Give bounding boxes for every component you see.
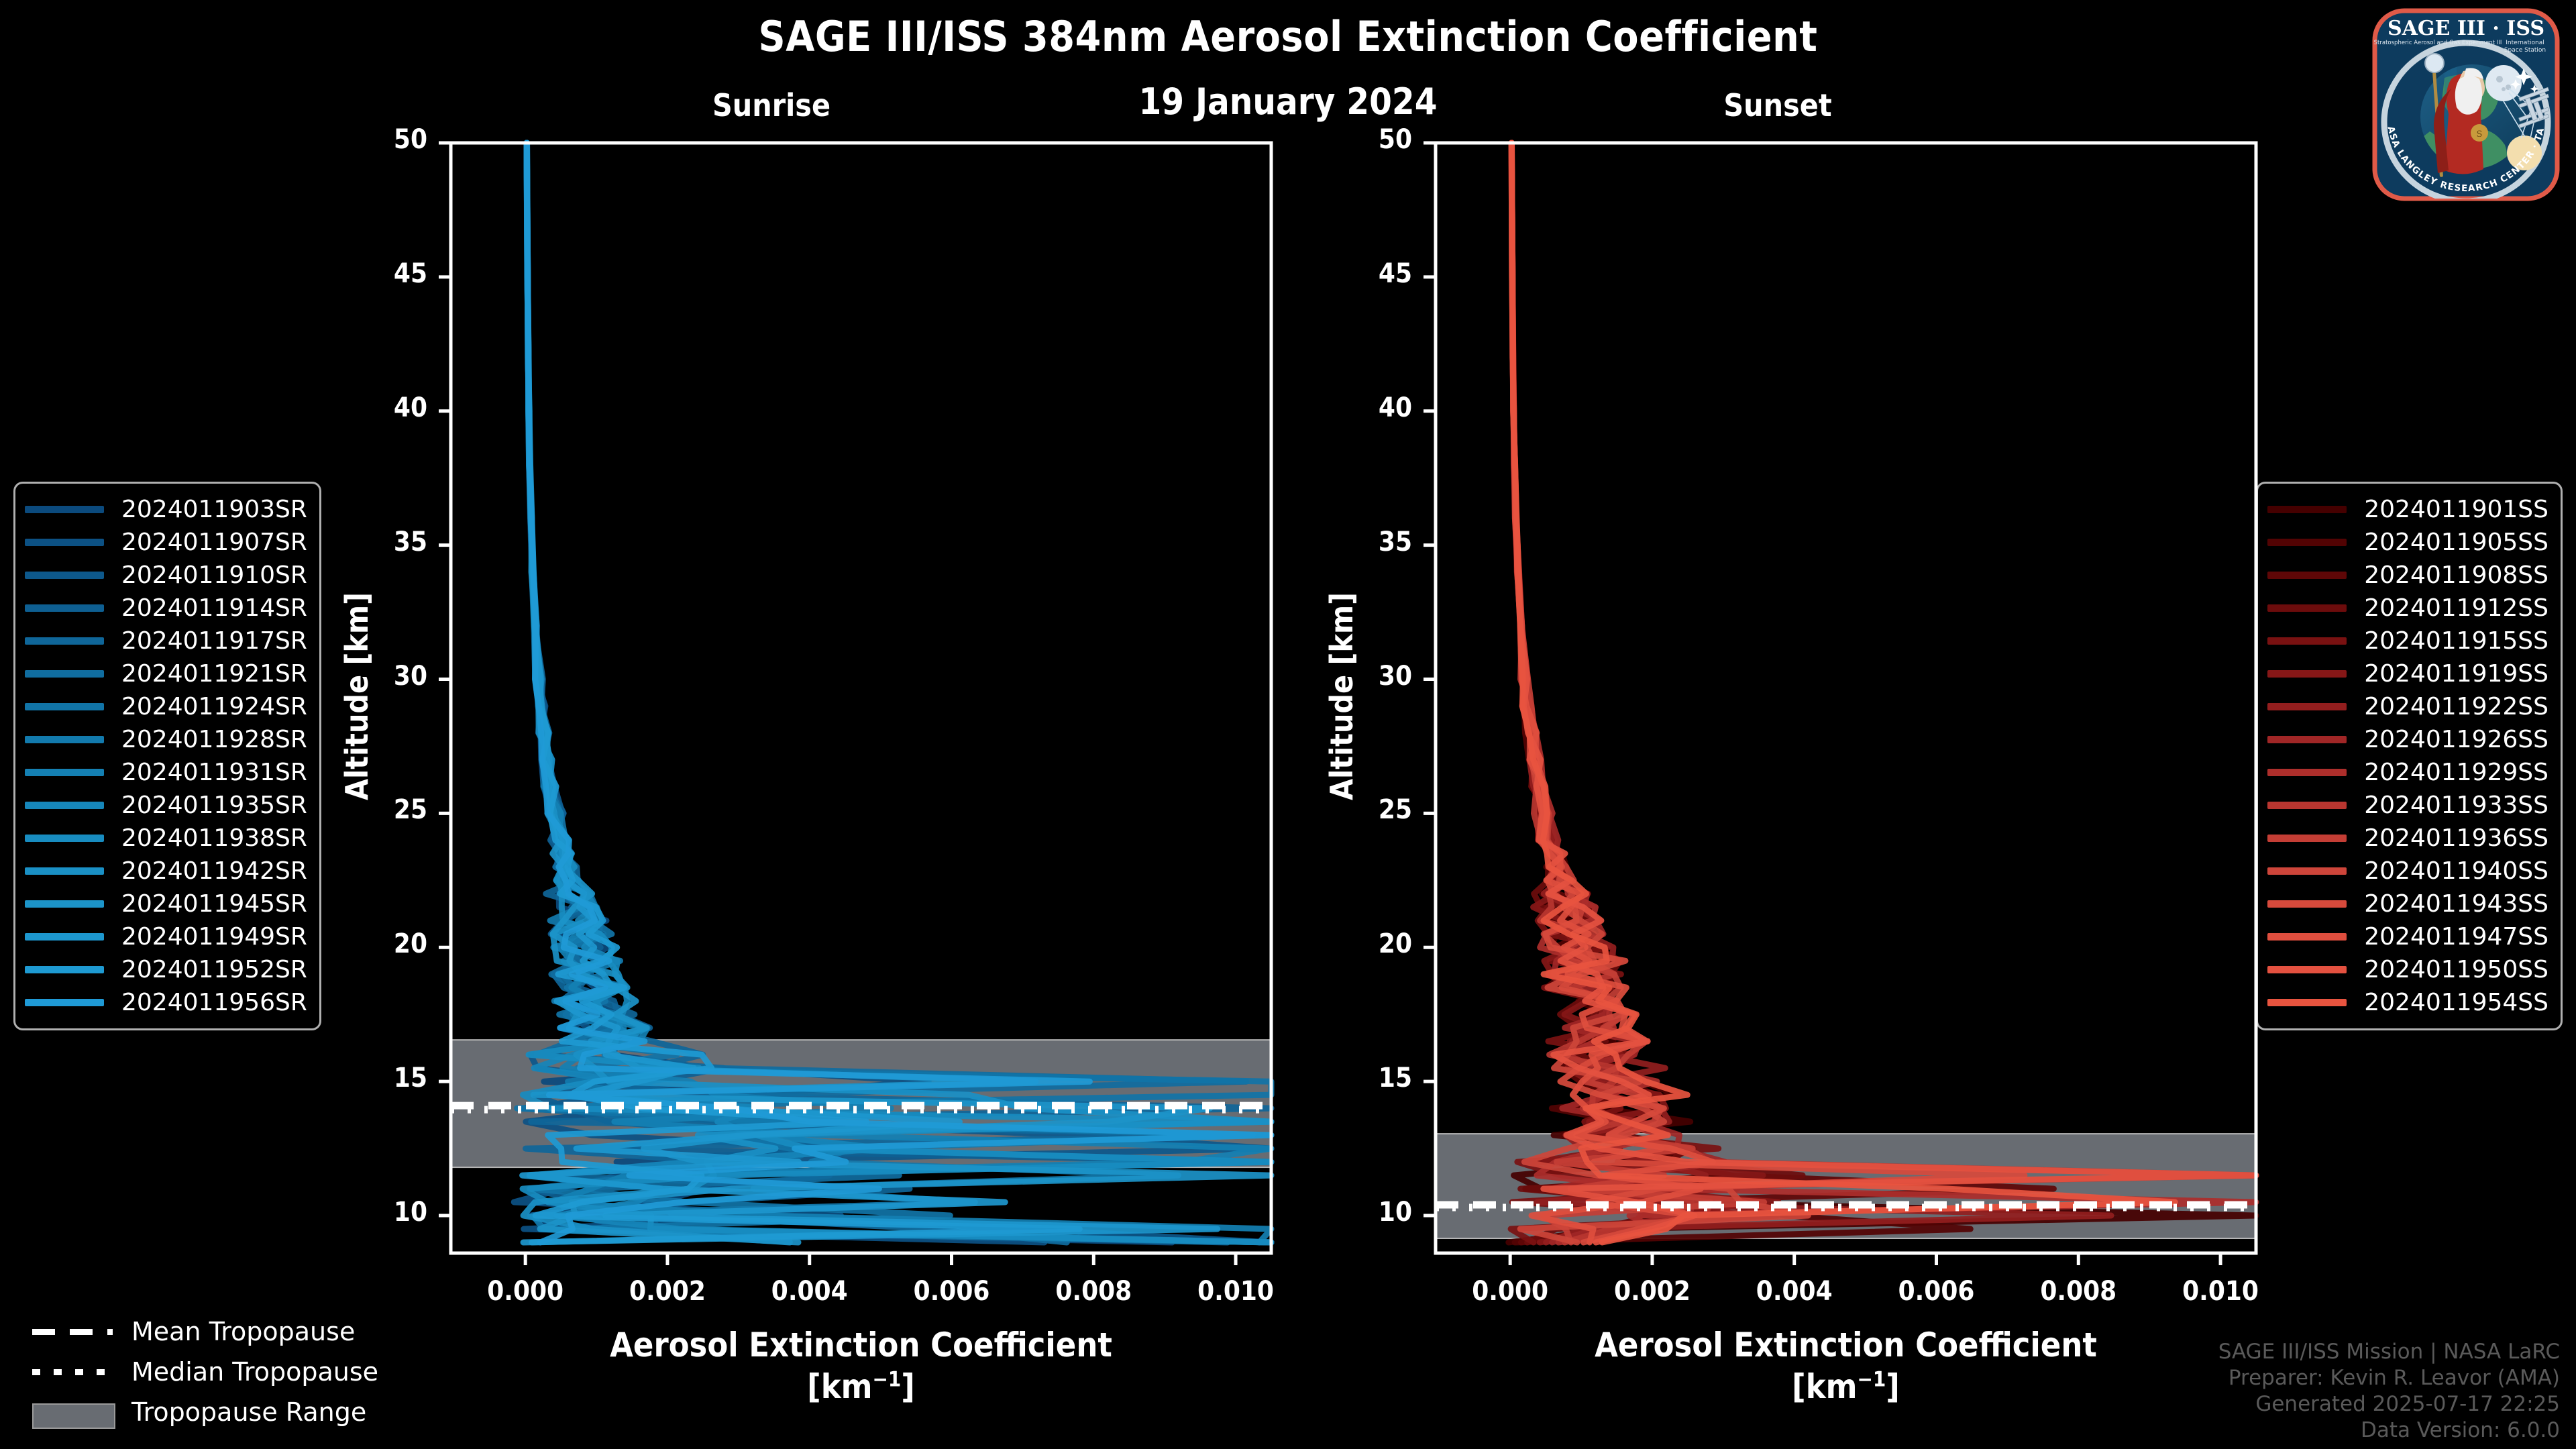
legend-sunset-label: 2024011919SS <box>2364 660 2548 688</box>
y-tick-label: 35 <box>350 527 427 557</box>
y-axis-label: Altitude [km] <box>1324 576 1360 817</box>
y-tick-label: 50 <box>350 124 427 155</box>
y-tick-label: 20 <box>350 928 427 959</box>
x-tick-label: 0.008 <box>2011 1276 2145 1307</box>
footer-line-mission: SAGE III/ISS Mission | NASA LaRC <box>2218 1339 2560 1365</box>
x-axis-label-line2: [km−1] <box>451 1367 1271 1407</box>
legend-sunrise-label: 2024011928SR <box>121 726 307 753</box>
legend-sunrise-item[interactable]: 2024011949SR <box>25 920 307 953</box>
legend-sunrise-label: 2024011938SR <box>121 824 307 852</box>
legend-sunrise: 2024011903SR2024011907SR2024011910SR2024… <box>13 482 321 1030</box>
legend-sunset-item[interactable]: 2024011908SS <box>2267 559 2548 592</box>
legend-sunset-item[interactable]: 2024011922SS <box>2267 690 2548 723</box>
legend-sunrise-item[interactable]: 2024011907SR <box>25 526 307 559</box>
legend-sunset-item[interactable]: 2024011936SS <box>2267 822 2548 855</box>
panel-label-sunset: Sunset <box>1644 87 1912 123</box>
dotted-line-icon <box>32 1363 113 1381</box>
line-swatch-icon <box>25 835 104 842</box>
legend-sunrise-item[interactable]: 2024011924SR <box>25 690 307 723</box>
y-tick-label: 35 <box>1335 527 1412 557</box>
legend-sunrise-label: 2024011945SR <box>121 890 307 918</box>
line-swatch-icon <box>25 703 104 710</box>
line-swatch-icon <box>2267 867 2347 875</box>
line-swatch-icon <box>25 802 104 809</box>
line-swatch-icon <box>2267 670 2347 678</box>
legend-sunrise-label: 2024011903SR <box>121 496 307 523</box>
logo-subtitle-right-2: Space Station <box>2504 47 2546 54</box>
y-tick-label: 45 <box>350 258 427 289</box>
legend-sunset-label: 2024011933SS <box>2364 792 2548 819</box>
line-swatch-icon <box>2267 736 2347 743</box>
legend-sunrise-item[interactable]: 2024011903SR <box>25 493 307 526</box>
line-swatch-icon <box>2267 703 2347 710</box>
line-swatch-icon <box>25 966 104 973</box>
legend-label-mean-tropopause: Mean Tropopause <box>131 1317 355 1346</box>
line-swatch-icon <box>25 999 104 1006</box>
x-tick-label: 0.004 <box>743 1276 877 1307</box>
y-tick-label: 15 <box>350 1063 427 1093</box>
legend-sunset: 2024011901SS2024011905SS2024011908SS2024… <box>2256 482 2563 1030</box>
y-tick-label: 10 <box>350 1197 427 1228</box>
x-axis-label-line1: Aerosol Extinction Coefficient <box>1436 1326 2256 1365</box>
line-swatch-icon <box>25 604 104 612</box>
legend-sunrise-item[interactable]: 2024011921SR <box>25 657 307 690</box>
legend-sunrise-label: 2024011921SR <box>121 660 307 688</box>
y-tick-label: 40 <box>350 392 427 423</box>
legend-sunset-label: 2024011954SS <box>2364 989 2548 1016</box>
line-swatch-icon <box>2267 933 2347 941</box>
line-swatch-icon <box>25 933 104 941</box>
legend-sunset-label: 2024011943SS <box>2364 890 2548 918</box>
legend-sunset-label: 2024011901SS <box>2364 496 2548 523</box>
line-swatch-icon <box>2267 802 2347 809</box>
legend-sunrise-label: 2024011931SR <box>121 759 307 786</box>
x-tick-label: 0.010 <box>2153 1276 2288 1307</box>
legend-label-median-tropopause: Median Tropopause <box>131 1357 378 1387</box>
line-swatch-icon <box>25 637 104 645</box>
legend-sunset-item[interactable]: 2024011950SS <box>2267 953 2548 986</box>
line-swatch-icon <box>2267 769 2347 776</box>
legend-sunset-item[interactable]: 2024011947SS <box>2267 920 2548 953</box>
y-tick-label: 40 <box>1335 392 1412 423</box>
legend-sunrise-item[interactable]: 2024011928SR <box>25 723 307 756</box>
line-swatch-icon <box>25 867 104 875</box>
x-tick-label: 0.000 <box>458 1276 592 1307</box>
y-tick-label: 50 <box>1335 124 1412 155</box>
logo-subtitle-left: Stratospheric Aerosol and Gas Experiment… <box>2374 40 2502 46</box>
line-swatch-icon <box>2267 835 2347 842</box>
line-swatch-icon <box>25 506 104 513</box>
legend-sunrise-label: 2024011935SR <box>121 792 307 819</box>
line-swatch-icon <box>2267 900 2347 908</box>
legend-sunrise-item[interactable]: 2024011917SR <box>25 625 307 657</box>
legend-sunset-label: 2024011947SS <box>2364 923 2548 951</box>
page-title: SAGE III/ISS 384nm Aerosol Extinction Co… <box>0 12 2576 61</box>
line-swatch-icon <box>2267 999 2347 1006</box>
line-swatch-icon <box>2267 604 2347 612</box>
legend-sunset-item[interactable]: 2024011919SS <box>2267 657 2548 690</box>
legend-sunrise-label: 2024011949SR <box>121 923 307 951</box>
logo-title: SAGE III · ISS <box>2387 17 2544 40</box>
legend-sunset-label: 2024011926SS <box>2364 726 2548 753</box>
footer-line-version: Data Version: 6.0.0 <box>2218 1417 2560 1444</box>
legend-sunrise-item[interactable]: 2024011935SR <box>25 789 307 822</box>
logo-subtitle-right-1: International <box>2506 40 2544 46</box>
legend-sunset-item[interactable]: 2024011933SS <box>2267 789 2548 822</box>
legend-sunset-label: 2024011908SS <box>2364 561 2548 589</box>
line-swatch-icon <box>25 670 104 678</box>
svg-text:S: S <box>2477 129 2483 140</box>
panel-label-sunrise: Sunrise <box>637 87 906 123</box>
y-tick-label: 15 <box>1335 1063 1412 1093</box>
legend-sunset-label: 2024011912SS <box>2364 594 2548 622</box>
line-swatch-icon <box>2267 539 2347 546</box>
gray-band-icon <box>32 1403 113 1421</box>
legend-sunrise-item[interactable]: 2024011938SR <box>25 822 307 855</box>
legend-sunrise-label: 2024011956SR <box>121 989 307 1016</box>
line-swatch-icon <box>25 539 104 546</box>
y-tick-label: 20 <box>1335 928 1412 959</box>
footer-line-generated: Generated 2025-07-17 22:25 <box>2218 1391 2560 1417</box>
legend-item-mean-tropopause: Mean Tropopause <box>13 1311 378 1352</box>
x-axis-label-line2: [km−1] <box>1436 1367 2256 1407</box>
legend-sunrise-label: 2024011924SR <box>121 693 307 720</box>
x-tick-label: 0.004 <box>1727 1276 1862 1307</box>
legend-sunset-item[interactable]: 2024011915SS <box>2267 625 2548 657</box>
footer-credits: SAGE III/ISS Mission | NASA LaRC Prepare… <box>2218 1339 2560 1444</box>
legend-sunset-label: 2024011940SS <box>2364 857 2548 885</box>
line-swatch-icon <box>2267 637 2347 645</box>
legend-sunrise-item[interactable]: 2024011952SR <box>25 953 307 986</box>
sage-iii-iss-logo: S SAGE III · ISS Stratospheric Aerosol a… <box>2365 4 2567 205</box>
line-swatch-icon <box>25 900 104 908</box>
dashed-line-icon <box>32 1323 113 1340</box>
plots-canvas <box>0 0 2576 1449</box>
legend-sunset-item[interactable]: 2024011943SS <box>2267 888 2548 920</box>
legend-sunset-item[interactable]: 2024011926SS <box>2267 723 2548 756</box>
legend-sunrise-label: 2024011907SR <box>121 529 307 556</box>
line-swatch-icon <box>2267 966 2347 973</box>
x-tick-label: 0.006 <box>885 1276 1019 1307</box>
x-tick-label: 0.000 <box>1443 1276 1577 1307</box>
x-axis-label-line1: Aerosol Extinction Coefficient <box>451 1326 1271 1365</box>
line-swatch-icon <box>25 572 104 579</box>
legend-sunset-item[interactable]: 2024011940SS <box>2267 855 2548 888</box>
legend-sunrise-label: 2024011917SR <box>121 627 307 655</box>
y-tick-label: 45 <box>1335 258 1412 289</box>
legend-sunset-item[interactable]: 2024011954SS <box>2267 986 2548 1019</box>
legend-sunrise-label: 2024011910SR <box>121 561 307 589</box>
legend-sunrise-label: 2024011942SR <box>121 857 307 885</box>
x-tick-label: 0.002 <box>600 1276 735 1307</box>
line-swatch-icon <box>25 736 104 743</box>
legend-sunrise-item[interactable]: 2024011942SR <box>25 855 307 888</box>
legend-sunrise-item[interactable]: 2024011931SR <box>25 756 307 789</box>
legend-sunset-label: 2024011915SS <box>2364 627 2548 655</box>
legend-item-tropopause-range: Tropopause Range <box>13 1392 378 1432</box>
legend-item-median-tropopause: Median Tropopause <box>13 1352 378 1392</box>
legend-sunset-label: 2024011950SS <box>2364 956 2548 983</box>
legend-sunset-label: 2024011929SS <box>2364 759 2548 786</box>
legend-label-tropopause-range: Tropopause Range <box>131 1397 366 1427</box>
legend-sunrise-item[interactable]: 2024011945SR <box>25 888 307 920</box>
legend-sunset-item[interactable]: 2024011901SS <box>2267 493 2548 526</box>
legend-sunrise-item[interactable]: 2024011956SR <box>25 986 307 1019</box>
legend-sunrise-label: 2024011952SR <box>121 956 307 983</box>
line-swatch-icon <box>25 769 104 776</box>
legend-sunset-item[interactable]: 2024011905SS <box>2267 526 2548 559</box>
legend-sunrise-item[interactable]: 2024011910SR <box>25 559 307 592</box>
line-swatch-icon <box>2267 506 2347 513</box>
legend-tropopause: Mean Tropopause Median Tropopause Tropop… <box>13 1311 378 1432</box>
x-tick-label: 0.002 <box>1585 1276 1719 1307</box>
legend-sunrise-item[interactable]: 2024011914SR <box>25 592 307 625</box>
x-tick-label: 0.008 <box>1026 1276 1161 1307</box>
footer-line-preparer: Preparer: Kevin R. Leavor (AMA) <box>2218 1365 2560 1391</box>
legend-sunset-label: 2024011922SS <box>2364 693 2548 720</box>
legend-sunset-label: 2024011905SS <box>2364 529 2548 556</box>
date-subtitle: 19 January 2024 <box>0 80 2576 123</box>
legend-sunrise-label: 2024011914SR <box>121 594 307 622</box>
x-tick-label: 0.006 <box>1870 1276 2004 1307</box>
y-axis-label: Altitude [km] <box>339 576 375 817</box>
x-tick-label: 0.010 <box>1169 1276 1303 1307</box>
legend-sunset-label: 2024011936SS <box>2364 824 2548 852</box>
line-swatch-icon <box>2267 572 2347 579</box>
legend-sunset-item[interactable]: 2024011912SS <box>2267 592 2548 625</box>
legend-sunset-item[interactable]: 2024011929SS <box>2267 756 2548 789</box>
y-tick-label: 10 <box>1335 1197 1412 1228</box>
